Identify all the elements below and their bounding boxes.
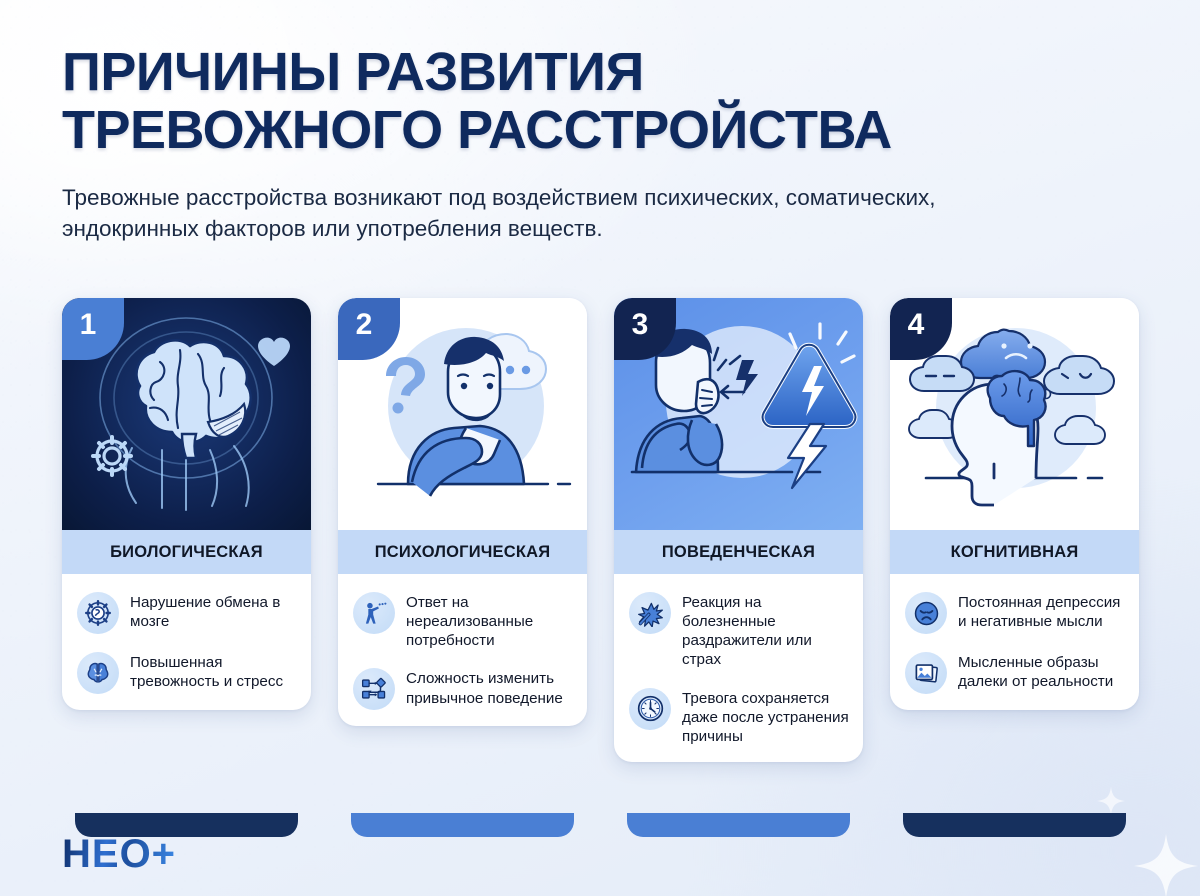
card-artwork-cognitive: 4 — [890, 298, 1139, 530]
card-number: 2 — [356, 308, 373, 342]
brain-icon — [77, 652, 119, 694]
brand-logo: НЕО+ — [62, 834, 176, 874]
list-item-text: Ответ на нереализованные потребности — [406, 592, 573, 650]
sad-face-icon — [905, 592, 947, 634]
list-item-text: Повышенная тревожность и стресс — [130, 652, 297, 691]
card-label-behavioral: ПОВЕДЕНЧЕСКАЯ — [614, 530, 863, 574]
card-base-bar — [627, 813, 850, 837]
card-label-biological: БИОЛОГИЧЕСКАЯ — [62, 530, 311, 574]
cause-card-4[interactable]: 4 КОГНИТИВНАЯ Постоянная — [890, 298, 1139, 828]
cause-cards-row: 1 БИОЛОГИЧЕСКАЯ Нарушение обмена в мозге — [62, 298, 1142, 828]
page-header: ПРИЧИНЫ РАЗВИТИЯ ТРЕВОЖНОГО РАССТРОЙСТВА… — [62, 44, 1122, 245]
page-title: ПРИЧИНЫ РАЗВИТИЯ ТРЕВОЖНОГО РАССТРОЙСТВА — [62, 44, 1122, 160]
card-number: 4 — [908, 308, 925, 342]
gear-icon — [93, 437, 131, 475]
page-title-line-2: ТРЕВОЖНОГО РАССТРОЙСТВА — [62, 102, 1122, 160]
cause-card-2[interactable]: 2 ПСИХОЛОГИЧЕСКАЯ Ответ на нереализованн… — [338, 298, 587, 828]
page-title-line-1: ПРИЧИНЫ РАЗВИТИЯ — [62, 42, 644, 102]
card-item-list: Ответ на нереализованные потребности — [338, 574, 587, 726]
card-item-list: Реакция на болезненные раздражители или … — [614, 574, 863, 762]
list-item: Тревога сохраняется даже после устранени… — [629, 688, 849, 746]
list-item: Сложность изменить привычное поведение — [353, 668, 573, 710]
impact-burst-icon — [629, 592, 671, 634]
list-item: Нарушение обмена в мозге — [77, 592, 297, 634]
list-item-text: Постоянная депрессия и негативные мысли — [958, 592, 1125, 631]
list-item: Ответ на нереализованные потребности — [353, 592, 573, 650]
list-item-text: Сложность изменить привычное поведение — [406, 668, 573, 707]
photos-icon — [905, 652, 947, 694]
card-item-list: Постоянная депрессия и негативные мысли … — [890, 574, 1139, 710]
gear-serotonin-icon — [77, 592, 119, 634]
clock-icon — [629, 688, 671, 730]
page-subtitle: Тревожные расстройства возникают под воз… — [62, 182, 1002, 246]
list-item: Постоянная депрессия и негативные мысли — [905, 592, 1125, 634]
flowchart-icon — [353, 668, 395, 710]
list-item-text: Реакция на болезненные раздражители или … — [682, 592, 849, 670]
cause-card-3[interactable]: 3 ПОВЕДЕНЧЕСКАЯ Реакция на болезненные р… — [614, 298, 863, 828]
card-number: 3 — [632, 308, 649, 342]
list-item: Мысленные образы далеки от реальности — [905, 652, 1125, 694]
list-item: Повышенная тревожность и стресс — [77, 652, 297, 694]
card-base-bar — [903, 813, 1126, 837]
person-reaching-icon — [353, 592, 395, 634]
card-artwork-behavioral: 3 — [614, 298, 863, 530]
cause-card-1[interactable]: 1 БИОЛОГИЧЕСКАЯ Нарушение обмена в мозге — [62, 298, 311, 828]
card-label-cognitive: КОГНИТИВНАЯ — [890, 530, 1139, 574]
list-item-text: Тревога сохраняется даже после устранени… — [682, 688, 849, 746]
list-item-text: Мысленные образы далеки от реальности — [958, 652, 1125, 691]
card-item-list: Нарушение обмена в мозге Повышенная трев… — [62, 574, 311, 710]
list-item: Реакция на болезненные раздражители или … — [629, 592, 849, 670]
sparkle-star-bottom-right — [1132, 832, 1200, 896]
card-artwork-biological: 1 — [62, 298, 311, 530]
card-number: 1 — [80, 308, 97, 342]
brand-logo-text: НЕО+ — [62, 834, 176, 874]
card-label-psychological: ПСИХОЛОГИЧЕСКАЯ — [338, 530, 587, 574]
card-base-bar — [351, 813, 574, 837]
card-artwork-psychological: 2 — [338, 298, 587, 530]
list-item-text: Нарушение обмена в мозге — [130, 592, 297, 631]
